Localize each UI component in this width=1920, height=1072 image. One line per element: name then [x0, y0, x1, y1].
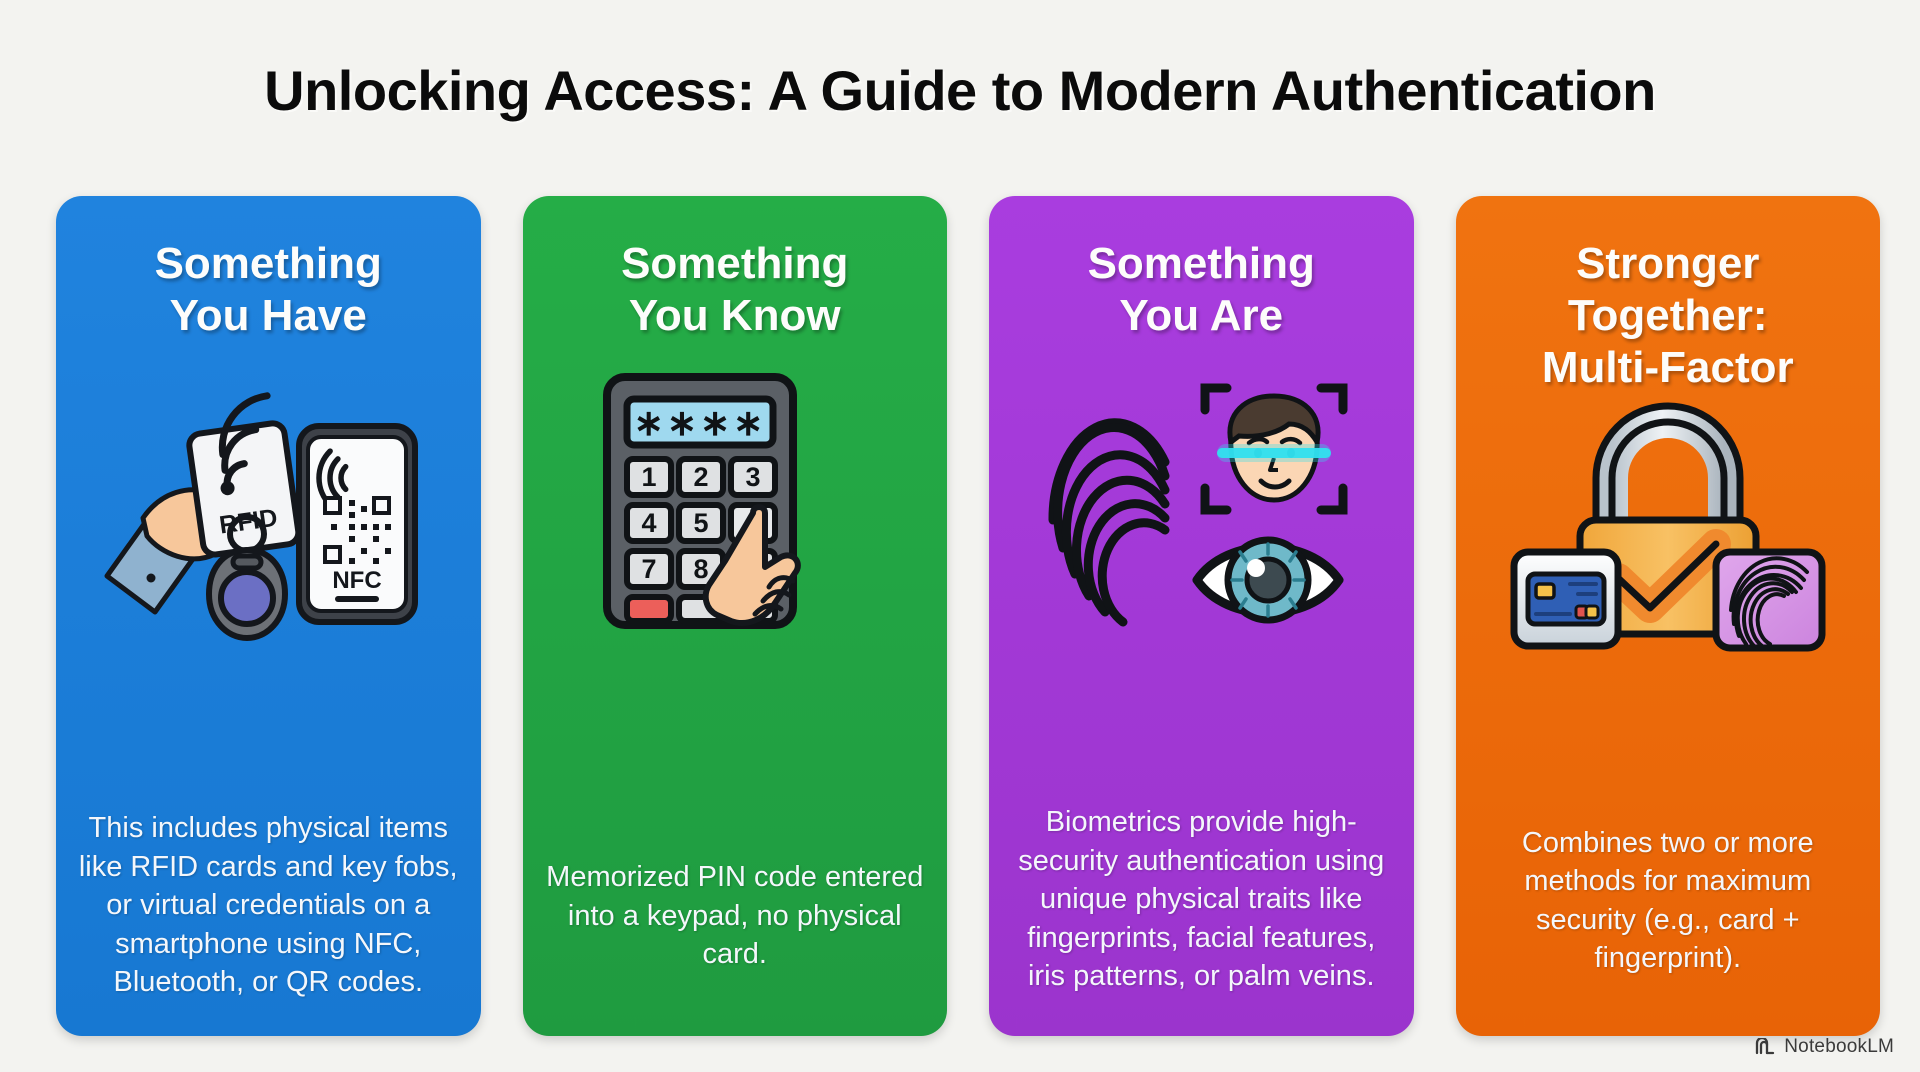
- cards-row: Something You Have: [56, 196, 1880, 1036]
- card-heading: Something You Are: [1088, 238, 1315, 342]
- card2-art-svg: ∗∗∗∗ 1 2 3 4 5: [585, 371, 885, 643]
- keypad-key-5: 5: [693, 508, 708, 538]
- iris-eye-icon: [1197, 540, 1339, 620]
- card-heading: Something You Have: [155, 238, 382, 342]
- page-title: Unlocking Access: A Guide to Modern Auth…: [0, 58, 1920, 123]
- card1-art-svg: RFID: [103, 388, 433, 648]
- keypad-key-3: 3: [745, 462, 760, 492]
- card-something-you-are[interactable]: Something You Are: [989, 196, 1414, 1036]
- card-stronger-together-multi-factor[interactable]: Stronger Together: Multi-Factor: [1456, 196, 1881, 1036]
- card-something-you-have[interactable]: Something You Have: [56, 196, 481, 1036]
- padlock-checkmark-card-fingerprint-illustration: [1456, 402, 1881, 652]
- card-description: Biometrics provide high-security authent…: [1007, 803, 1396, 996]
- fingerprint-face-scan-iris-illustration: [989, 372, 1414, 642]
- notebooklm-watermark: NotebookLM: [1754, 1036, 1894, 1058]
- card3-art-svg: [1031, 372, 1371, 642]
- keypad-with-finger-illustration: ∗∗∗∗ 1 2 3 4 5: [523, 372, 948, 642]
- hand-rfid-card-keyfob-phone-illustration: RFID: [56, 388, 481, 648]
- card-heading: Something You Know: [621, 238, 848, 342]
- card-heading: Stronger Together: Multi-Factor: [1542, 238, 1794, 394]
- keypad-key-8: 8: [693, 554, 708, 584]
- notebooklm-label: NotebookLM: [1784, 1036, 1894, 1058]
- card-something-you-know[interactable]: Something You Know ∗∗∗∗ 1 2 3: [523, 196, 948, 1036]
- card4-art-svg: [1508, 402, 1828, 652]
- nfc-phone-label: NFC: [333, 567, 382, 594]
- notebooklm-logo-icon: [1754, 1038, 1776, 1056]
- card-description: This includes physical items like RFID c…: [74, 809, 463, 1002]
- face-scan-icon: [1205, 388, 1343, 510]
- keypad-key-2: 2: [693, 462, 708, 492]
- keypad-key-7: 7: [641, 554, 656, 584]
- keypad-key-1: 1: [641, 462, 656, 492]
- keypad-display-value: ∗∗∗∗: [633, 402, 766, 443]
- credit-card-tile-icon: [1514, 552, 1618, 646]
- card-description: Combines two or more methods for maximum…: [1474, 824, 1863, 978]
- fingerprint-tile-icon: [1716, 552, 1822, 648]
- fingerprint-icon: [1053, 423, 1165, 622]
- infographic-root: Unlocking Access: A Guide to Modern Auth…: [0, 0, 1920, 1072]
- card-description: Memorized PIN code entered into a keypad…: [541, 858, 930, 974]
- keypad-key-4: 4: [641, 508, 656, 538]
